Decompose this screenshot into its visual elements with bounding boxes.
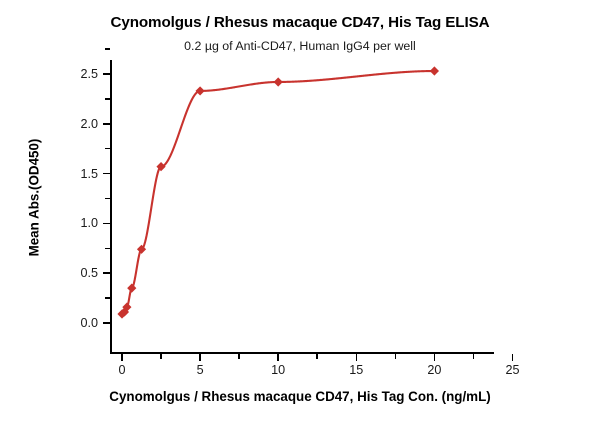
data-point-marker — [430, 66, 439, 75]
series-curve — [122, 71, 434, 314]
data-point-marker — [274, 77, 283, 86]
x-axis-title: Cynomolgus / Rhesus macaque CD47, His Ta… — [0, 389, 600, 404]
y-axis-title: Mean Abs.(OD450) — [27, 78, 42, 318]
series-plot — [0, 0, 600, 421]
series-markers — [117, 66, 439, 318]
elisa-chart: Cynomolgus / Rhesus macaque CD47, His Ta… — [0, 0, 600, 421]
data-point-marker — [196, 86, 205, 95]
data-point-marker — [127, 284, 136, 293]
